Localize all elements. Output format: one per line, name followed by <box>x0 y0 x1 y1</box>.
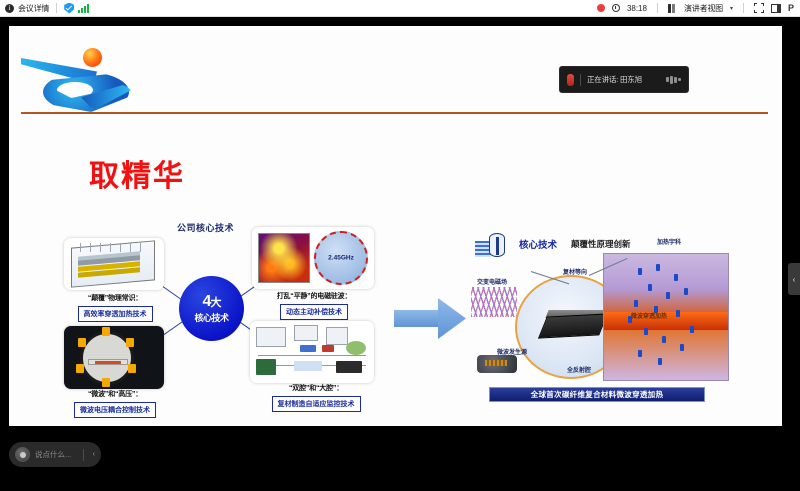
right-diagram: 核心技术 颠覆性原理创新 <box>471 231 731 406</box>
chevron-down-icon[interactable]: ▾ <box>730 5 733 12</box>
signal-bars-icon[interactable] <box>78 4 89 13</box>
frequency-label: 2.45GHz <box>328 255 354 262</box>
caption-title: “微波”和“高压”： <box>54 389 176 399</box>
specimen-shelf <box>88 359 128 365</box>
meeting-timer: 38:18 <box>627 4 647 13</box>
presentation-stage: 取精华 公司核心技术 4大 核心技术 <box>0 17 800 491</box>
achievement-banner: 全球首次碳纤维复合材料微波穿透加热 <box>489 387 705 402</box>
divider <box>743 3 744 13</box>
composite-sample-photo <box>477 355 517 373</box>
toolbar-left-group: i 会议详情 <box>0 3 89 14</box>
thermal-heatmap-image <box>258 233 310 283</box>
user-avatar <box>15 447 30 462</box>
hub-label: 核心技术 <box>194 314 228 323</box>
slide-title: 取精华 <box>89 151 185 195</box>
node-caption-4: “双腔”和“大腔”： 复材制造自适应监控技术 <box>250 383 382 412</box>
fullscreen-icon[interactable] <box>754 3 764 13</box>
microwave-chamber-photo <box>64 326 164 389</box>
diagram-heading: 公司核心技术 <box>177 221 234 234</box>
more-options-icon[interactable]: P <box>788 3 794 13</box>
caption-title: “双腔”和“大腔”： <box>250 383 382 393</box>
right-heading-primary: 核心技术 <box>519 237 557 251</box>
diagram-label: 加热宇科 <box>657 237 681 246</box>
right-heading-secondary: 颠覆性原理创新 <box>571 238 631 250</box>
caption-box: 微波电压耦合控制技术 <box>74 402 156 418</box>
diagram-label: 交变电磁场 <box>477 277 507 286</box>
divider <box>83 449 84 461</box>
diagram-label: 微波发生源 <box>497 347 527 356</box>
conference-app-window: i 会议详情 38:18 演讲者视图 ▾ P <box>0 0 800 491</box>
header-rule <box>21 112 768 114</box>
presenter-view-icon[interactable] <box>668 4 677 13</box>
audio-wave-icon <box>666 76 681 84</box>
caption-title: 打乱“平静”的电磁驻波： <box>250 291 378 301</box>
info-circle-icon[interactable]: i <box>5 4 14 13</box>
view-mode-label[interactable]: 演讲者视图 <box>684 3 723 14</box>
comment-input-placeholder[interactable]: 说点什么... <box>35 449 71 460</box>
node-caption-2: 打乱“平静”的电磁驻波： 动态主动补偿技术 <box>250 291 378 320</box>
core-tech-badge-icon <box>475 233 515 259</box>
divider <box>580 74 581 86</box>
caption-box: 复材制造自适应监控技术 <box>272 396 361 412</box>
divider <box>56 3 57 13</box>
right-arrow <box>394 298 466 338</box>
split-window-icon[interactable] <box>771 4 781 13</box>
control-system-diagram <box>250 321 374 383</box>
shield-check-icon[interactable] <box>64 3 74 14</box>
chevron-left-icon: ‹ <box>793 275 796 284</box>
node-caption-1: “颠覆”物理常识： 高效率穿透加热技术 <box>56 293 174 322</box>
diagram-label: 微波穿透加热 <box>631 311 667 320</box>
left-diagram: 公司核心技术 4大 核心技术 <box>64 221 374 416</box>
hub-unit: 大 <box>210 297 220 309</box>
panel-collapse-handle[interactable]: ‹ <box>788 263 800 295</box>
caption-title: “颠覆”物理常识： <box>56 293 174 303</box>
layered-panel-schematic <box>64 238 164 290</box>
microphone-icon <box>567 74 574 86</box>
diagram-label: 全反射腔 <box>567 365 591 374</box>
polymer-chain-illustration <box>471 287 517 317</box>
active-speaker-label: 正在讲话: 田东旭 <box>587 74 642 85</box>
toolbar-right-group: 38:18 演讲者视图 ▾ P <box>597 3 800 14</box>
active-speaker-pill[interactable]: 正在讲话: 田东旭 <box>559 66 689 93</box>
node-caption-3: “微波”和“高压”： 微波电压耦合控制技术 <box>54 389 176 418</box>
caption-box: 高效率穿透加热技术 <box>78 306 153 322</box>
meeting-info-label[interactable]: 会议详情 <box>18 3 49 14</box>
recording-dot-icon[interactable] <box>597 4 605 12</box>
clock-icon <box>612 4 620 12</box>
thermal-heatmap-and-2450mhz-cavity: 2.45GHz <box>252 227 374 289</box>
caption-box: 动态主动补偿技术 <box>280 304 348 320</box>
logo-sun-dot-icon <box>83 48 102 67</box>
top-toolbar: i 会议详情 38:18 演讲者视图 ▾ P <box>0 0 800 17</box>
resonant-cavity-diagram: 2.45GHz <box>314 231 368 285</box>
core-tech-hub: 4大 核心技术 <box>179 276 244 341</box>
divider <box>657 3 658 13</box>
chevron-left-icon[interactable]: ‹ <box>89 451 95 458</box>
composite-panel <box>538 313 608 338</box>
diagram-label: 复材等向 <box>563 267 587 276</box>
comment-bar[interactable]: 说点什么... ‹ <box>9 442 101 467</box>
company-logo <box>21 44 133 112</box>
